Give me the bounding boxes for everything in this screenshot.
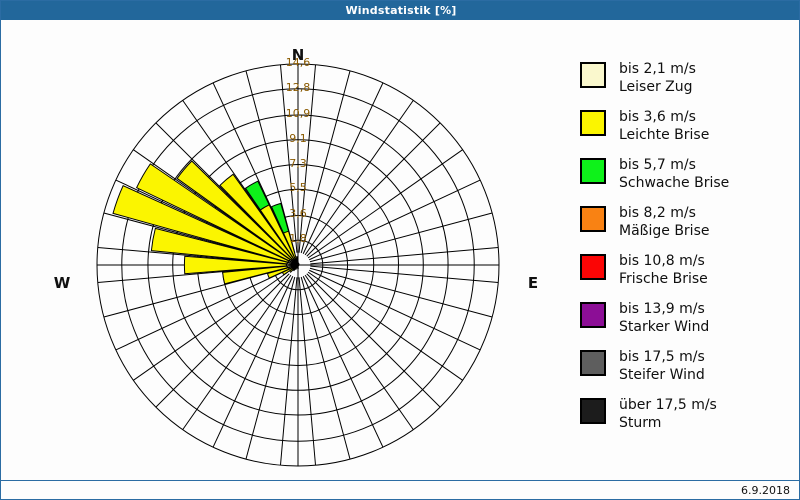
legend-name-label: Steifer Wind (619, 366, 705, 384)
legend-speed-label: bis 10,8 m/s (619, 252, 708, 270)
legend-item-4[interactable]: bis 8,2 m/sMäßige Brise (580, 204, 795, 244)
legend-name-label: Mäßige Brise (619, 222, 709, 240)
compass-label-east: E (513, 274, 553, 292)
legend-label: bis 8,2 m/sMäßige Brise (619, 204, 709, 240)
legend-speed-label: bis 17,5 m/s (619, 348, 705, 366)
legend-name-label: Leichte Brise (619, 126, 709, 144)
legend-label: über 17,5 m/sSturm (619, 396, 717, 432)
legend-swatch-icon (580, 206, 606, 232)
compass-label-north: N (278, 46, 318, 64)
legend-label: bis 13,9 m/sStarker Wind (619, 300, 709, 336)
legend-label: bis 2,1 m/sLeiser Zug (619, 60, 696, 96)
compass-label-west: W (42, 274, 82, 292)
chart-canvas: N S W E 1,83,65,57,39,110,912,814,6 bis … (2, 20, 800, 480)
legend-name-label: Starker Wind (619, 318, 709, 336)
legend-swatch-icon (580, 254, 606, 280)
window-titlebar: Windstatistik [%] (1, 1, 800, 20)
legend-speed-label: bis 3,6 m/s (619, 108, 709, 126)
legend-speed-label: über 17,5 m/s (619, 396, 717, 414)
legend-name-label: Frische Brise (619, 270, 708, 288)
legend-speed-label: bis 13,9 m/s (619, 300, 709, 318)
windstatistik-window: Windstatistik [%] N S W E 1,83,65,57,39,… (0, 0, 800, 500)
legend-swatch-icon (580, 158, 606, 184)
legend-item-7[interactable]: bis 17,5 m/sSteifer Wind (580, 348, 795, 388)
legend-item-5[interactable]: bis 10,8 m/sFrische Brise (580, 252, 795, 292)
legend-name-label: Leiser Zug (619, 78, 696, 96)
legend-speed-label: bis 8,2 m/s (619, 204, 709, 222)
legend-speed-label: bis 2,1 m/s (619, 60, 696, 78)
legend-item-8[interactable]: über 17,5 m/sSturm (580, 396, 795, 436)
window-title: Windstatistik [%] (345, 4, 456, 17)
legend-label: bis 5,7 m/sSchwache Brise (619, 156, 729, 192)
legend-item-1[interactable]: bis 2,1 m/sLeiser Zug (580, 60, 795, 100)
legend-swatch-icon (580, 302, 606, 328)
legend-item-2[interactable]: bis 3,6 m/sLeichte Brise (580, 108, 795, 148)
legend: bis 2,1 m/sLeiser Zugbis 3,6 m/sLeichte … (580, 60, 795, 444)
legend-label: bis 17,5 m/sSteifer Wind (619, 348, 705, 384)
date-stamp: 6.9.2018 (741, 484, 790, 497)
legend-swatch-icon (580, 110, 606, 136)
legend-swatch-icon (580, 398, 606, 424)
footer-bar (1, 480, 800, 500)
legend-item-6[interactable]: bis 13,9 m/sStarker Wind (580, 300, 795, 340)
legend-label: bis 3,6 m/sLeichte Brise (619, 108, 709, 144)
legend-label: bis 10,8 m/sFrische Brise (619, 252, 708, 288)
legend-speed-label: bis 5,7 m/s (619, 156, 729, 174)
legend-item-3[interactable]: bis 5,7 m/sSchwache Brise (580, 156, 795, 196)
legend-name-label: Sturm (619, 414, 717, 432)
legend-name-label: Schwache Brise (619, 174, 729, 192)
legend-swatch-icon (580, 62, 606, 88)
legend-swatch-icon (580, 350, 606, 376)
